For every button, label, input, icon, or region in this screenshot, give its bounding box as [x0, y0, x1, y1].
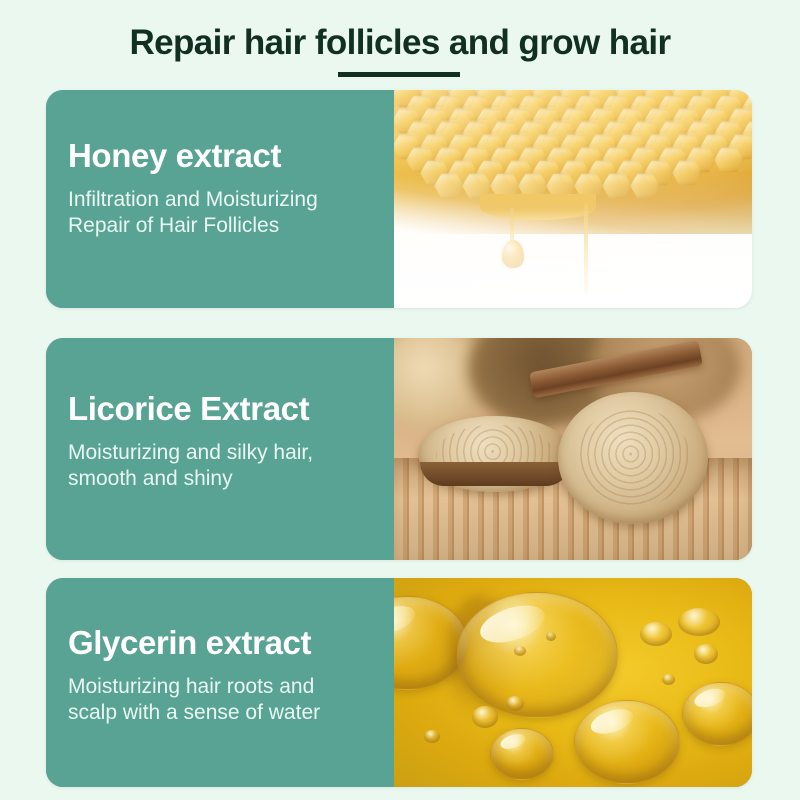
oil-bubble-h: [514, 646, 526, 656]
card-description-line-1: Infiltration and Moisturizing: [68, 187, 374, 213]
header: Repair hair follicles and grow hair: [0, 22, 800, 64]
oil-bubble-c: [640, 622, 672, 646]
product-ingredient-infographic: Repair hair follicles and grow hair Hone…: [0, 0, 800, 800]
page-title: Repair hair follicles and grow hair: [0, 22, 800, 64]
honey-thread-right: [584, 202, 588, 294]
card-heading: Glycerin extract: [68, 624, 374, 662]
oil-bubble-f: [424, 730, 440, 743]
card-description: Moisturizing hair roots and scalp with a…: [68, 674, 374, 726]
oil-droplet-small-lower-left: [490, 728, 554, 780]
honeycomb-dripping-honey-photo: [394, 90, 752, 308]
licorice-growth-rings: [576, 408, 690, 508]
card-description: Moisturizing and silky hair, smooth and …: [68, 440, 374, 492]
oil-droplet-large-center: [456, 592, 618, 718]
licorice-slice-right: [558, 392, 708, 524]
licorice-slice-left-rind: [420, 462, 570, 486]
card-description-line-2: Repair of Hair Follicles: [68, 213, 374, 239]
card-text-panel: Glycerin extract Moisturizing hair roots…: [46, 578, 394, 787]
card-heading: Licorice Extract: [68, 390, 374, 428]
oil-droplet-medium-bottom: [574, 700, 680, 784]
oil-bubble-a: [472, 706, 498, 728]
honey-droplet-bead: [502, 240, 524, 268]
card-description-line-2: smooth and shiny: [68, 466, 374, 492]
card-description: Infiltration and Moisturizing Repair of …: [68, 187, 374, 239]
card-description-line-1: Moisturizing hair roots and: [68, 674, 374, 700]
card-heading: Honey extract: [68, 137, 374, 175]
oil-droplet-medium-right: [682, 682, 752, 746]
oil-bubble-i: [546, 632, 556, 641]
card-text-panel: Honey extract Infiltration and Moisturiz…: [46, 90, 394, 308]
ingredient-card-honey: Honey extract Infiltration and Moisturiz…: [46, 90, 752, 308]
card-text-panel: Licorice Extract Moisturizing and silky …: [46, 338, 394, 560]
oil-bubble-b: [506, 696, 524, 711]
card-description-line-1: Moisturizing and silky hair,: [68, 440, 374, 466]
honey-drip-mass: [480, 194, 596, 220]
card-description-line-2: scalp with a sense of water: [68, 700, 374, 726]
oil-bubble-e: [694, 644, 718, 664]
oil-bubble-d: [678, 608, 720, 636]
ingredient-card-glycerin: Glycerin extract Moisturizing hair roots…: [46, 578, 752, 787]
licorice-root-slices-on-bamboo-mat-photo: [394, 338, 752, 560]
title-underline-accent: [338, 72, 460, 77]
golden-oil-droplets-photo: [394, 578, 752, 787]
oil-bubble-g: [662, 674, 675, 685]
ingredient-card-licorice: Licorice Extract Moisturizing and silky …: [46, 338, 752, 560]
